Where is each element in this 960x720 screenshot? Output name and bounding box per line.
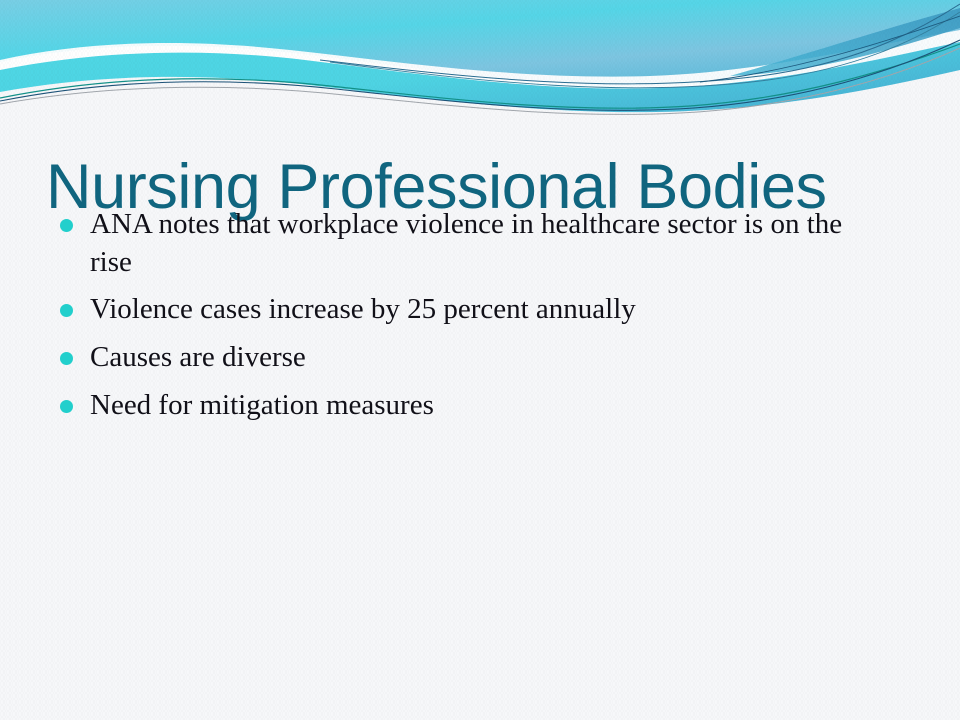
list-item: ANA notes that workplace violence in hea…: [48, 206, 868, 281]
bullet-point-icon: [60, 219, 73, 232]
list-item-text: Causes are diverse: [90, 339, 868, 377]
slide-content: Nursing Professional Bodies ANA notes th…: [0, 0, 960, 720]
list-item-text: ANA notes that workplace violence in hea…: [90, 206, 868, 281]
list-item: Violence cases increase by 25 percent an…: [48, 291, 868, 329]
bullet-list: ANA notes that workplace violence in hea…: [48, 206, 868, 424]
list-item-text: Need for mitigation measures: [90, 387, 868, 425]
list-item: Need for mitigation measures: [48, 387, 868, 425]
bullet-point-icon: [60, 304, 73, 317]
list-item: Causes are diverse: [48, 339, 868, 377]
list-item-text: Violence cases increase by 25 percent an…: [90, 291, 868, 329]
bullet-point-icon: [60, 352, 73, 365]
presentation-slide: Nursing Professional Bodies ANA notes th…: [0, 0, 960, 720]
bullet-point-icon: [60, 400, 73, 413]
